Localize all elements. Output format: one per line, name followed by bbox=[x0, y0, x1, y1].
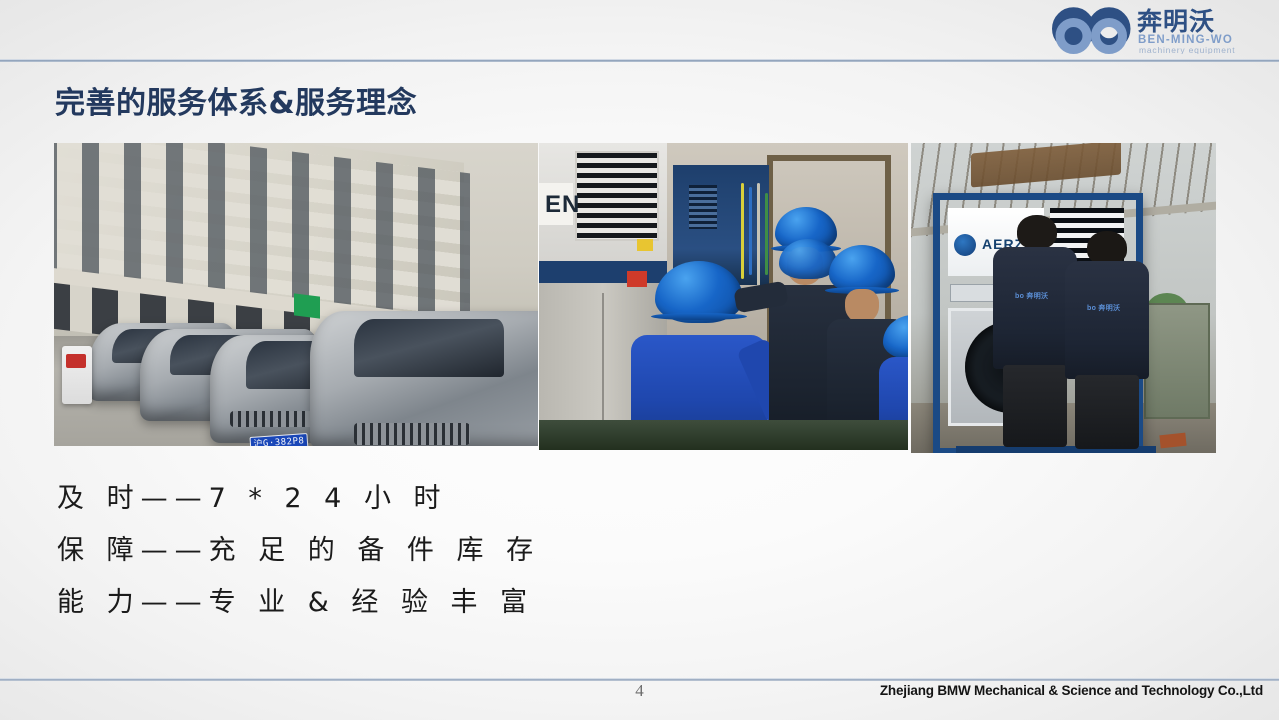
bullet-line-1: 及 时——7 * 2 4 小 时 bbox=[57, 473, 677, 525]
photo-strip: 沪G·382P8 bbox=[54, 143, 1216, 453]
bullet-line-2: 保 障——充 足 的 备 件 库 存 bbox=[57, 525, 677, 577]
svg-text:奔明沃: 奔明沃 bbox=[1137, 7, 1215, 36]
bullet-list: 及 时——7 * 2 4 小 时 保 障——充 足 的 备 件 库 存 能 力—… bbox=[57, 473, 677, 629]
photo-aerzen-maintenance: AERZEN bo 奔明沃 bbox=[911, 143, 1216, 453]
slide-root: 奔明沃 BEN-MING-WO machinery equipment 完善的服… bbox=[0, 0, 1279, 720]
page-title: 完善的服务体系&服务理念 bbox=[55, 78, 417, 122]
machine-label: EN bbox=[545, 191, 580, 219]
company-logo: 奔明沃 BEN-MING-WO machinery equipment bbox=[1037, 4, 1265, 54]
bullet-line-3: 能 力——专 业 & 经 验 丰 富 bbox=[57, 577, 677, 629]
svg-text:machinery equipment: machinery equipment bbox=[1139, 45, 1235, 54]
photo-car-fleet: 沪G·382P8 bbox=[54, 143, 538, 446]
photo-onsite-service: EN bbox=[539, 143, 908, 450]
uniform-logo-right: bo 奔明沃 bbox=[1087, 303, 1120, 313]
parking-kiosk bbox=[62, 346, 92, 404]
footer-company-name: Zhejiang BMW Mechanical & Science and Te… bbox=[880, 683, 1263, 698]
aerzen-logo-icon bbox=[954, 234, 976, 256]
uniform-logo-left: bo 奔明沃 bbox=[1015, 291, 1048, 301]
header-divider bbox=[0, 59, 1279, 62]
